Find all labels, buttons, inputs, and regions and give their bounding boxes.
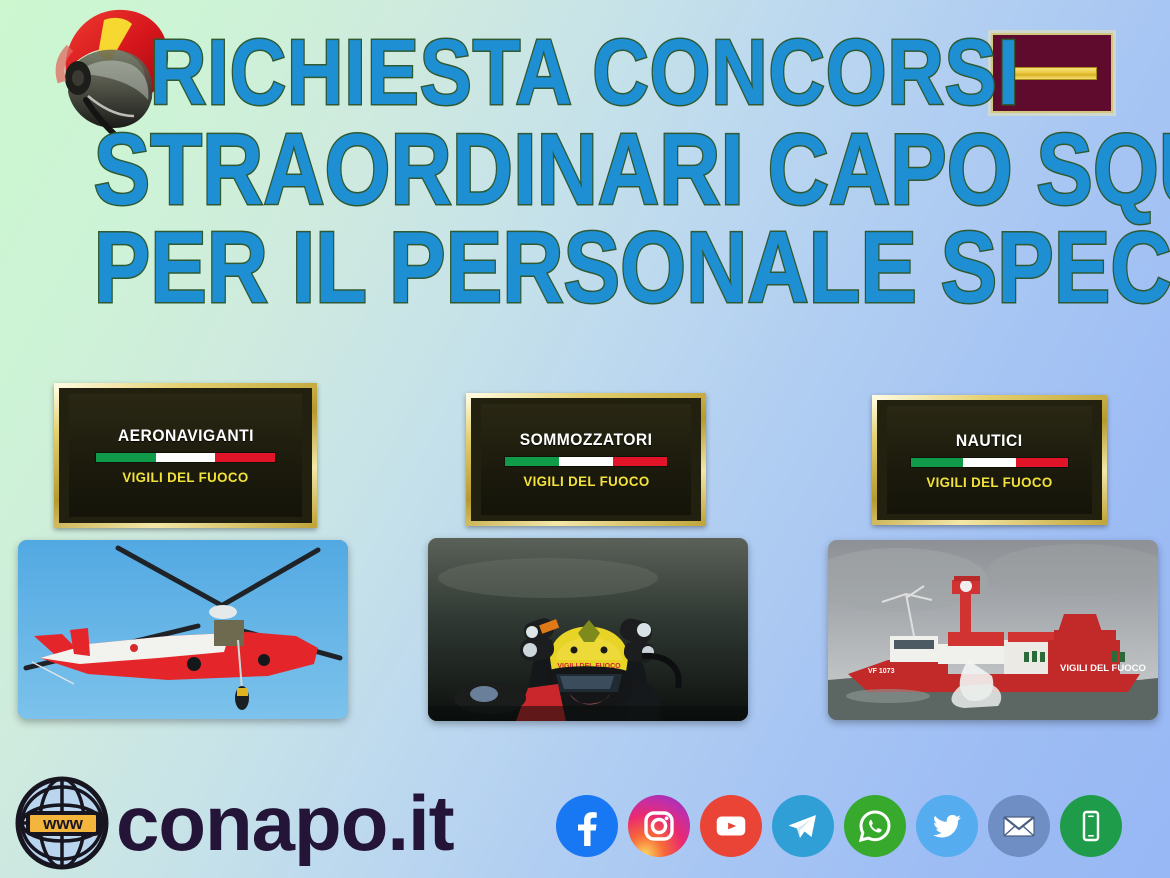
telegram-icon[interactable]	[772, 795, 834, 857]
social-bar	[556, 795, 1122, 857]
svg-text:VIGILI DEL FUOCO: VIGILI DEL FUOCO	[1060, 663, 1146, 674]
twitter-icon[interactable]	[916, 795, 978, 857]
badge-inner: NAUTICI VIGILI DEL FUOCO	[887, 406, 1092, 514]
svg-text:VF 1073: VF 1073	[868, 668, 895, 675]
title-line-3: PER IL PERSONALE SPECIALISTA	[94, 222, 1077, 315]
badge-nautici: NAUTICI VIGILI DEL FUOCO	[872, 395, 1107, 525]
italian-flag-icon	[95, 452, 277, 463]
badge-specialty-label: SOMMOZZATORI	[520, 430, 653, 450]
badge-sommozzatori: SOMMOZZATORI VIGILI DEL FUOCO	[466, 393, 706, 526]
badge-aeronaviganti: AERONAVIGANTI VIGILI DEL FUOCO	[54, 383, 317, 528]
badge-specialty-label: NAUTICI	[956, 431, 1023, 451]
email-icon[interactable]	[988, 795, 1050, 857]
whatsapp-icon[interactable]	[844, 795, 906, 857]
badge-corps-label: VIGILI DEL FUOCO	[122, 469, 248, 485]
italian-flag-icon	[910, 457, 1070, 468]
globe-www-label: www	[42, 814, 83, 833]
conapo-wordmark: conapo.it	[116, 784, 454, 862]
badge-corps-label: VIGILI DEL FUOCO	[926, 474, 1052, 490]
mobile-icon[interactable]	[1060, 795, 1122, 857]
italian-flag-icon	[504, 456, 668, 467]
title-line-1: RICHIESTA CONCORSI	[94, 30, 1077, 116]
fireboat-photo: VIGILI DEL FUOCO VF 1073	[828, 540, 1158, 720]
conapo-logo[interactable]: www conapo.it	[14, 775, 454, 871]
youtube-icon[interactable]	[700, 795, 762, 857]
firefighter-helmet-icon	[52, 4, 176, 144]
diver-photo: VIGILI DEL FUOCO	[428, 538, 748, 721]
facebook-icon[interactable]	[556, 795, 618, 857]
title-line-2: STRAORDINARI CAPO SQUADRA	[94, 124, 1077, 217]
helicopter-rescue-photo	[18, 540, 348, 719]
rank-bar	[1007, 67, 1097, 80]
badge-inner: AERONAVIGANTI VIGILI DEL FUOCO	[69, 394, 302, 517]
capo-squadra-rank-icon	[988, 30, 1116, 116]
globe-www-icon: www	[14, 775, 110, 871]
badge-corps-label: VIGILI DEL FUOCO	[523, 473, 649, 489]
badge-specialty-label: AERONAVIGANTI	[117, 426, 253, 446]
badge-inner: SOMMOZZATORI VIGILI DEL FUOCO	[481, 404, 691, 515]
instagram-icon[interactable]	[628, 795, 690, 857]
